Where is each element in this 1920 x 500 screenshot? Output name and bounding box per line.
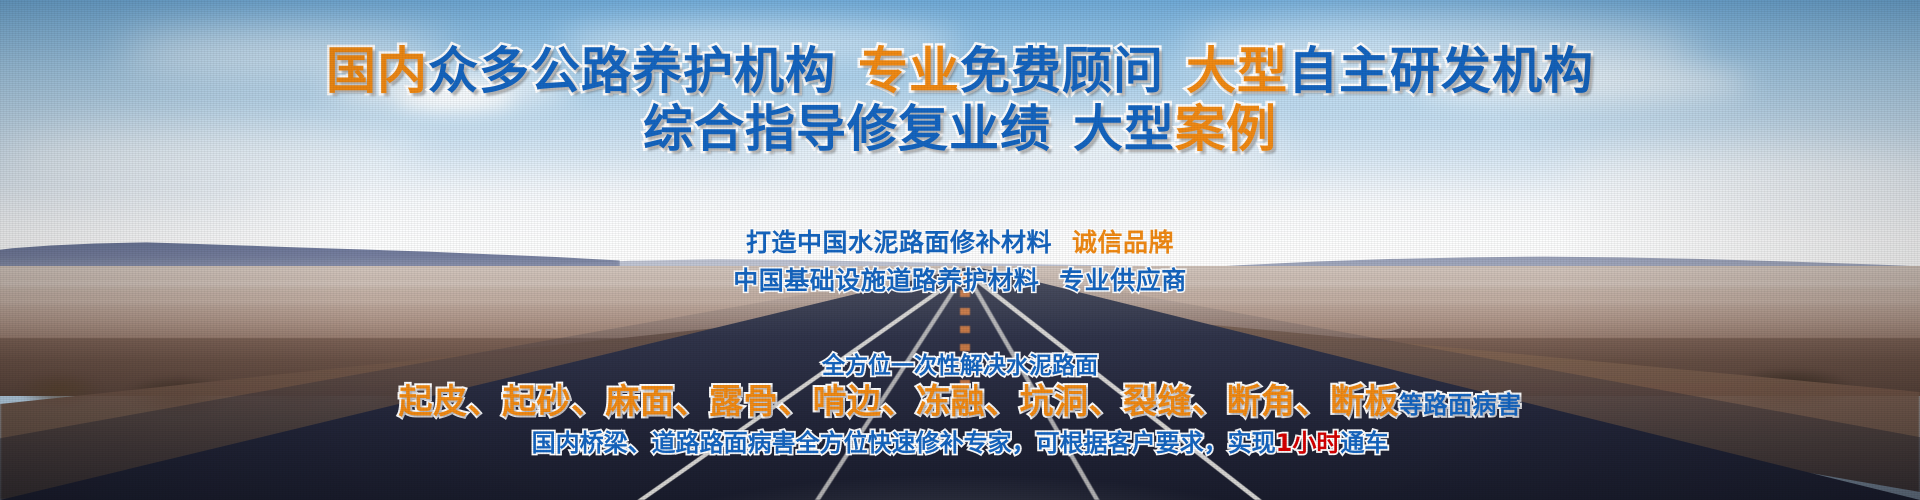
headline-line-2-seg-3: 案例 bbox=[1175, 100, 1277, 158]
bottom-line-3-seg-0: 国内桥梁、道路路面病害全方位快速修补专家，可根据客户要求，实现 bbox=[532, 429, 1276, 457]
bottom-line-2-seg-2: 等路面病害 bbox=[1399, 391, 1522, 419]
bottom-line-1: 全方位一次性解决水泥路面 bbox=[0, 352, 1920, 380]
bottom-line-2-seg-0: 起皮、起砂、麻面、露骨、啃边、冻融、坑洞、裂缝、断角、断板 bbox=[399, 382, 1400, 422]
bottom-line-3-seg-2: 通车 bbox=[1340, 429, 1388, 457]
headline-line-2-seg-0: 综合指导修复业绩 bbox=[643, 100, 1051, 158]
headline-line-2-seg-2: 大型 bbox=[1073, 100, 1175, 158]
bottom-line-1-seg-0: 全方位一次性解决水泥路面 bbox=[822, 353, 1098, 379]
headline-line-1-seg-7: 自主研发机构 bbox=[1288, 42, 1594, 100]
promo-banner: 国内众多公路养护机构专业免费顾问大型自主研发机构 综合指导修复业绩大型案例 打造… bbox=[0, 0, 1920, 500]
subhead-line-2-seg-2: 专业供应商 bbox=[1059, 266, 1187, 295]
headline-line-1: 国内众多公路养护机构专业免费顾问大型自主研发机构 bbox=[0, 44, 1920, 98]
headline-line-2: 综合指导修复业绩大型案例 bbox=[0, 102, 1920, 156]
bottom-line-3-seg-1: 1小时 bbox=[1276, 429, 1341, 457]
subhead-line-2: 中国基础设施道路养护材料专业供应商 bbox=[0, 266, 1920, 296]
bottom-line-2: 起皮、起砂、麻面、露骨、啃边、冻融、坑洞、裂缝、断角、断板等路面病害 bbox=[0, 382, 1920, 425]
subhead-line-2-seg-0: 中国基础设施道路养护材料 bbox=[733, 266, 1039, 295]
banner-text-layer: 国内众多公路养护机构专业免费顾问大型自主研发机构 综合指导修复业绩大型案例 打造… bbox=[0, 0, 1920, 500]
headline-line-1-seg-4: 免费顾问 bbox=[960, 42, 1164, 100]
subhead-line-1: 打造中国水泥路面修补材料诚信品牌 bbox=[0, 228, 1920, 258]
bottom-line-3: 国内桥梁、道路路面病害全方位快速修补专家，可根据客户要求，实现1小时通车 bbox=[0, 428, 1920, 458]
headline-line-1-seg-1: 众多公路养护机构 bbox=[428, 42, 836, 100]
subhead-line-1-seg-0: 打造中国水泥路面修补材料 bbox=[746, 228, 1052, 257]
headline-line-1-seg-3: 专业 bbox=[858, 42, 960, 100]
headline-line-1-seg-6: 大型 bbox=[1186, 42, 1288, 100]
headline-line-1-seg-0: 国内 bbox=[326, 42, 428, 100]
subhead-line-1-seg-2: 诚信品牌 bbox=[1072, 228, 1174, 257]
